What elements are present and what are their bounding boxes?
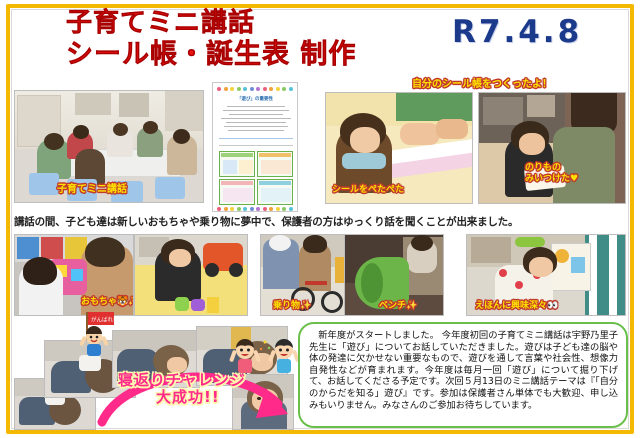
photo-mini-lecture-room: 子育てミニ講話 — [14, 90, 204, 203]
note-body: 新年度がスタートしました。 今年度初回の子育てミニ講話は宇野乃里子先生に「遊び」… — [309, 330, 618, 411]
date-stamp: R7.4.8 — [452, 14, 582, 50]
caption-ride-on: 乗り物✨ — [273, 301, 311, 312]
handout-dots-bottom — [217, 207, 293, 212]
caption-toys: おもちゃ🐯✨ — [81, 297, 134, 308]
caption-bench: ベンチ✨ — [379, 301, 417, 312]
photo-toy-floor-play — [134, 234, 248, 316]
caption-found-vehicle: のりもの みいつけた♥ — [525, 163, 578, 185]
photo-vehicle-sticker-child: のりもの みいつけた♥ — [478, 92, 626, 204]
photo-ride-on-toy: 乗り物✨ — [260, 234, 356, 316]
middle-description: 講話の間、子ども達は新しいおもちゃや乗り物に夢中で、保護者の方はゆっくり話を聞く… — [14, 214, 518, 229]
handout-panel-1 — [219, 151, 255, 177]
cheering-character-with-flag: がんばれ! — [70, 310, 120, 362]
handout-dots-top — [217, 87, 293, 92]
page-title: 子育てミニ講話 シール帳・誕生表 制作 — [66, 8, 396, 70]
caption-found-vehicle-line1: のりもの — [525, 163, 561, 173]
handout-title: 「遊び」の重要性 — [213, 96, 297, 102]
photo-sticker-book-child: シールをぺたぺた — [325, 92, 473, 204]
banner-made-my-sticker-book: 自分のシール帳をつくったよ！ — [412, 79, 552, 90]
photo-toy-play-babies: おもちゃ🐯✨ — [14, 234, 134, 316]
note-box: 新年度がスタートしました。 今年度初回の子育てミニ講話は宇野乃里子先生に「遊び」… — [298, 322, 628, 428]
newsletter-page: 子育てミニ講話 シール帳・誕生表 制作 R7.4.8 子育てミニ講話 — [0, 0, 640, 438]
caption-picture-book: えほんに興味深々👀 — [475, 301, 558, 312]
title-line-1: 子育てミニ講話 — [66, 8, 396, 39]
photo-green-bench: ベンチ✨ — [344, 234, 444, 316]
caption-found-vehicle-line2: みいつけた♥ — [525, 174, 578, 184]
highlight-line-1: 寝返りチャレンジ — [118, 371, 246, 389]
handout-panel-4 — [257, 179, 293, 205]
cheering-kids-illustration — [228, 336, 304, 382]
title-line-2: シール帳・誕生表 制作 — [66, 39, 396, 70]
svg-text:がんばれ!: がんばれ! — [91, 316, 115, 324]
caption-mini-lecture: 子育てミニ講話 — [57, 184, 127, 195]
handout-panel-3 — [219, 179, 255, 205]
highlight-text: 寝返りチャレンジ 大成功!! — [118, 372, 246, 406]
handout-panel-2 — [257, 151, 293, 177]
photo-picture-book-interest: えほんに興味深々👀 — [466, 234, 626, 316]
handout-thumbnail: 「遊び」の重要性 — [212, 82, 298, 212]
caption-sticker-peta: シールをぺたぺた — [332, 185, 404, 196]
highlight-line-2: 大成功!! — [118, 389, 246, 406]
